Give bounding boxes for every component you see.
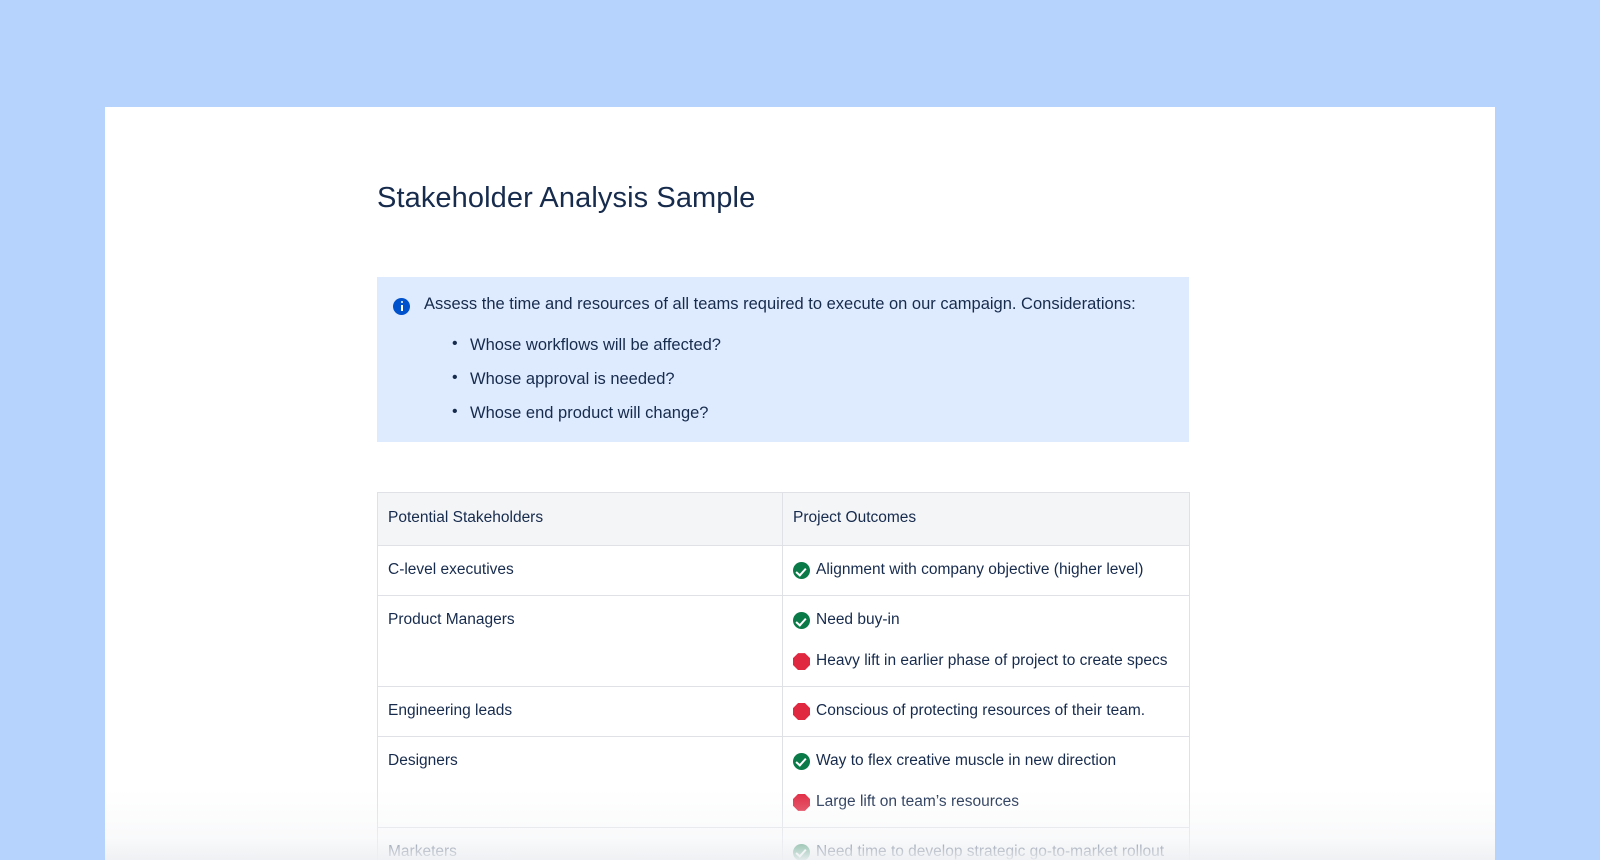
check-circle-icon — [793, 612, 810, 629]
info-panel-bullet-list: Whose workflows will be affected? Whose … — [424, 334, 1169, 425]
page-title: Stakeholder Analysis Sample — [377, 107, 1189, 216]
info-bullet-item: Whose workflows will be affected? — [470, 334, 1169, 356]
table-row: Product Managers Need buy-in Heavy lift … — [378, 596, 1190, 687]
document-content: Stakeholder Analysis Sample Assess the t… — [377, 107, 1189, 860]
stakeholder-analysis-table: Potential Stakeholders Project Outcomes … — [377, 492, 1190, 860]
outcome-text: Conscious of protecting resources of the… — [810, 701, 1145, 722]
outcome-text: Need buy-in — [810, 610, 900, 631]
table-row: Engineering leads Conscious of protectin… — [378, 687, 1190, 737]
info-panel: Assess the time and resources of all tea… — [377, 277, 1189, 442]
table-row: Designers Way to flex creative muscle in… — [378, 736, 1190, 827]
check-circle-icon — [793, 753, 810, 770]
outcome-text: Heavy lift in earlier phase of project t… — [810, 651, 1168, 672]
info-circle-icon — [393, 298, 410, 315]
outcome-text: Alignment with company objective (higher… — [810, 560, 1143, 581]
cell-outcomes: Need buy-in Heavy lift in earlier phase … — [783, 596, 1190, 687]
cell-outcomes: Conscious of protecting resources of the… — [783, 687, 1190, 737]
stop-octagon-icon — [793, 653, 810, 670]
cell-stakeholder: Product Managers — [378, 596, 783, 687]
column-header-outcomes: Project Outcomes — [783, 493, 1190, 546]
cell-outcomes: Need time to develop strategic go-to-mar… — [783, 827, 1190, 860]
outcome-item: Alignment with company objective (higher… — [793, 560, 1179, 581]
table-row: Marketers Need time to develop strategic… — [378, 827, 1190, 860]
check-circle-icon — [793, 844, 810, 860]
outcome-item: Heavy lift in earlier phase of project t… — [793, 651, 1179, 672]
outcome-item: Conscious of protecting resources of the… — [793, 701, 1179, 722]
table-header-row: Potential Stakeholders Project Outcomes — [378, 493, 1190, 546]
stop-octagon-icon — [793, 703, 810, 720]
info-panel-body: Assess the time and resources of all tea… — [424, 293, 1169, 424]
screen-canvas: Stakeholder Analysis Sample Assess the t… — [0, 0, 1600, 860]
info-panel-lead-text: Assess the time and resources of all tea… — [424, 293, 1169, 315]
column-header-stakeholders: Potential Stakeholders — [378, 493, 783, 546]
stop-octagon-icon — [793, 794, 810, 811]
outcome-item: Need buy-in — [793, 610, 1179, 631]
document-page: Stakeholder Analysis Sample Assess the t… — [105, 107, 1495, 860]
cell-stakeholder: C-level executives — [378, 546, 783, 596]
check-circle-icon — [793, 562, 810, 579]
cell-outcomes: Alignment with company objective (higher… — [783, 546, 1190, 596]
cell-stakeholder: Engineering leads — [378, 687, 783, 737]
outcome-text: Large lift on team’s resources — [810, 792, 1019, 813]
outcome-item: Need time to develop strategic go-to-mar… — [793, 842, 1179, 860]
cell-stakeholder: Marketers — [378, 827, 783, 860]
outcome-text: Need time to develop strategic go-to-mar… — [810, 842, 1164, 860]
info-bullet-item: Whose end product will change? — [470, 402, 1169, 424]
cell-stakeholder: Designers — [378, 736, 783, 827]
info-bullet-item: Whose approval is needed? — [470, 368, 1169, 390]
outcome-text: Way to flex creative muscle in new direc… — [810, 751, 1116, 772]
outcome-item: Way to flex creative muscle in new direc… — [793, 751, 1179, 772]
cell-outcomes: Way to flex creative muscle in new direc… — [783, 736, 1190, 827]
table-row: C-level executives Alignment with compan… — [378, 546, 1190, 596]
outcome-item: Large lift on team’s resources — [793, 792, 1179, 813]
